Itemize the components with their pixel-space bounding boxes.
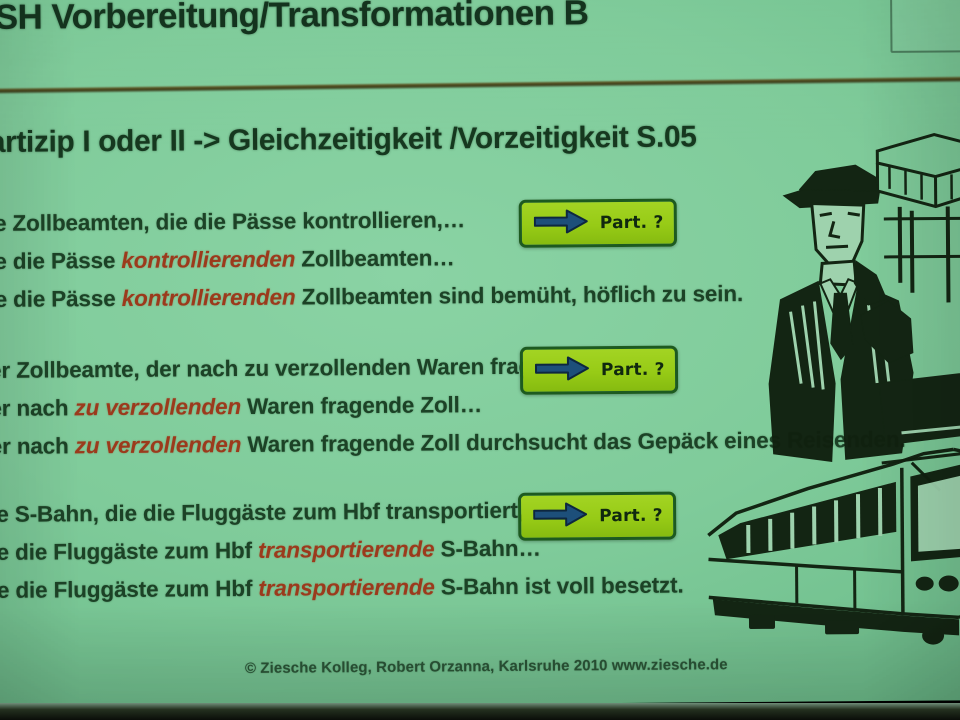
emphasized-participle: transportierende: [258, 536, 435, 562]
slide-footer-credit: © Ziesche Kolleg, Robert Orzanna, Karlsr…: [0, 654, 960, 679]
line-text: Die die Fluggäste zum Hbf: [0, 576, 258, 603]
line-text: Der nach: [0, 433, 75, 459]
line-text: Die die Pässe: [0, 248, 121, 274]
badge-label: Part. ?: [601, 360, 665, 380]
text-group-verzollung: Der Zollbeamte, der nach zu verzollenden…: [0, 345, 906, 466]
right-arrow-icon: [535, 356, 589, 385]
part-question-badge[interactable]: Part. ?: [518, 492, 676, 541]
line-text: Die Zollbeamten, die die Pässe kontrolli…: [0, 207, 465, 236]
line-text: Die die Pässe: [0, 286, 122, 312]
part-question-badge[interactable]: Part. ?: [519, 199, 677, 248]
part-question-badge[interactable]: Part. ?: [520, 346, 678, 395]
right-arrow-icon: [534, 209, 588, 238]
right-arrow-icon: [533, 502, 587, 531]
line-text: Der Zollbeamte, der nach zu verzollenden…: [0, 353, 568, 383]
emphasized-participle: zu verzollenden: [74, 394, 241, 420]
slide-headline: OSH Vorbereitung/Transformationen B: [0, 0, 588, 38]
s-bahn-train-illustration: [696, 437, 960, 654]
emphasized-participle: transportierende: [258, 574, 435, 600]
header-divider: [0, 76, 960, 95]
line-text: Waren fragende Zoll…: [241, 392, 482, 419]
line-text: S-Bahn ist voll besetzt.: [435, 573, 684, 600]
page-number-box: 2: [890, 0, 960, 53]
emphasized-participle: kontrollierenden: [121, 247, 295, 273]
line-text: Zollbeamten sind bemüht, höflich zu sein…: [295, 281, 743, 310]
slide-subheadline: Partizip I oder II -> Gleichzeitigkeit /…: [0, 120, 697, 160]
line-text: Waren fragende Zoll durchsucht das Gepäc…: [241, 427, 905, 457]
slide-line: Die die Pässe kontrollierenden Zollbeamt…: [0, 275, 743, 319]
projection-screen-photo: OSH Vorbereitung/Transformationen B 2 Pa…: [0, 0, 960, 720]
line-text: Der nach: [0, 395, 75, 421]
emphasized-participle: zu verzollenden: [75, 432, 242, 458]
emphasized-participle: kontrollierenden: [122, 285, 296, 311]
badge-label: Part. ?: [600, 213, 664, 233]
line-text: Die S-Bahn, die die Fluggäste zum Hbf tr…: [0, 498, 546, 527]
presentation-slide: OSH Vorbereitung/Transformationen B 2 Pa…: [0, 0, 960, 708]
slide-line: Der nach zu verzollenden Waren fragende …: [0, 421, 906, 466]
line-text: Zollbeamten…: [295, 245, 455, 271]
screen-bottom-edge: [0, 703, 960, 720]
badge-label: Part. ?: [599, 506, 663, 526]
slide-line: Die die Fluggäste zum Hbf transportieren…: [0, 567, 684, 611]
line-text: Die die Fluggäste zum Hbf: [0, 538, 258, 565]
page-number: 2: [949, 0, 960, 3]
